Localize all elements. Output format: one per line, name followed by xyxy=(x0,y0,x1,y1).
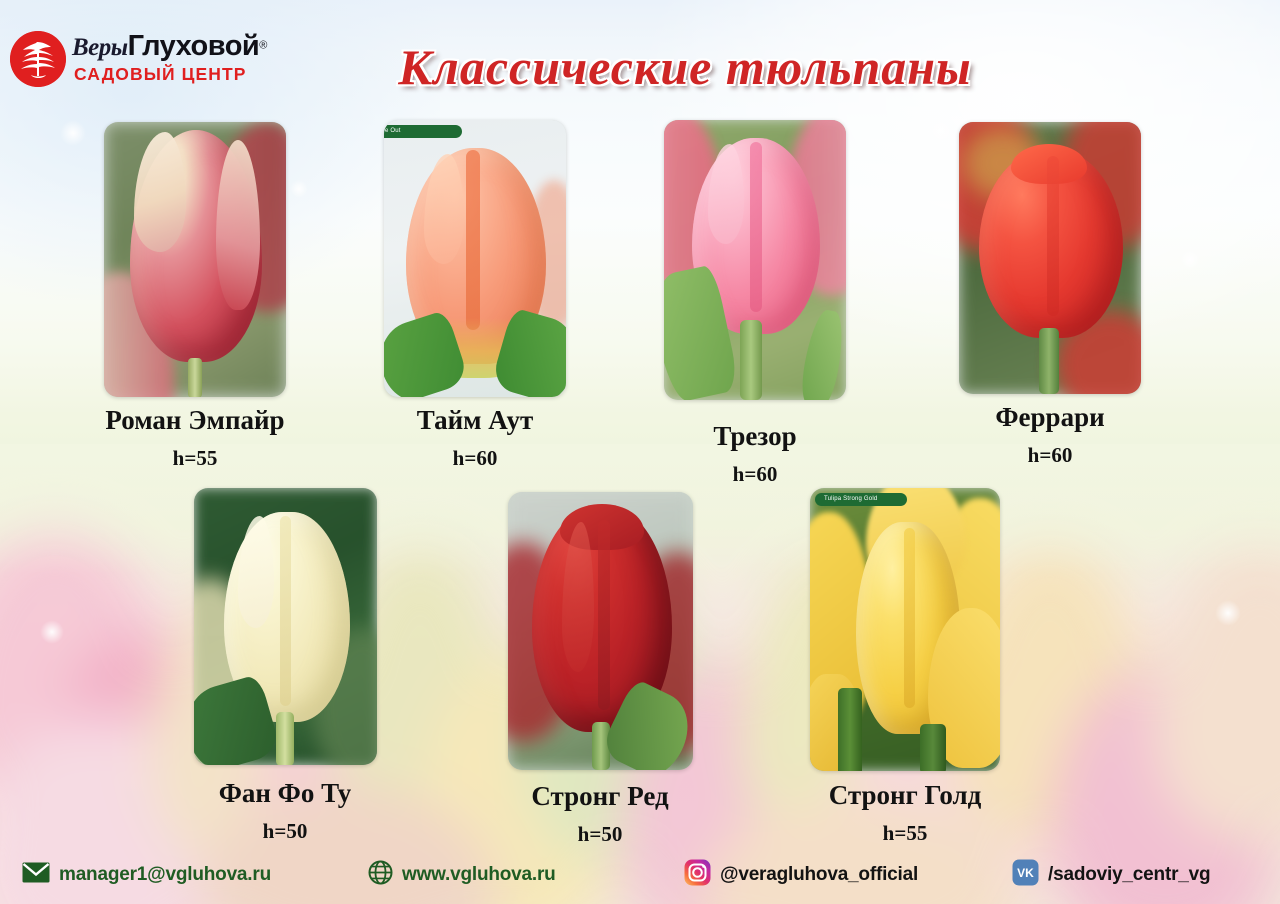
tulip-photo-badge: Tulipa Strong Gold xyxy=(815,493,907,506)
tulip-card-strong-gold: Tulipa Strong Gold Стронг Голд h=55 xyxy=(775,488,1035,846)
tulip-photo-roman-empire xyxy=(104,122,286,397)
tulip-name: Феррари xyxy=(915,403,1185,433)
tulip-photo-time-out: e Out xyxy=(384,120,566,397)
svg-text:VK: VK xyxy=(1017,866,1034,880)
tulip-photo-strong-red xyxy=(508,492,693,770)
contact-bar: manager1@vgluhova.ru www.vgluhova.ru xyxy=(0,846,1280,904)
tulip-height: h=60 xyxy=(620,462,890,487)
contact-instagram[interactable]: @veragluhova_official xyxy=(684,859,918,891)
tulip-caption-strong-red: Стронг Ред h=50 xyxy=(470,782,730,847)
contact-website[interactable]: www.vgluhova.ru xyxy=(368,860,556,890)
tulip-caption-trezor: Трезор h=60 xyxy=(620,422,890,487)
contact-vk[interactable]: VK /sadoviy_centr_vg xyxy=(1012,859,1210,891)
vk-icon: VK xyxy=(1012,859,1039,891)
tulip-photo-trezor xyxy=(664,120,846,400)
contact-email[interactable]: manager1@vgluhova.ru xyxy=(22,862,271,888)
tulip-name: Трезор xyxy=(620,422,890,452)
tulip-height: h=50 xyxy=(155,819,415,844)
contact-vk-text: /sadoviy_centr_vg xyxy=(1048,864,1210,886)
tulip-height: h=55 xyxy=(775,821,1035,846)
email-icon xyxy=(22,862,50,888)
tulip-photo-fan-fo-tu xyxy=(194,488,377,765)
poster-canvas: ВерыГлуховой® САДОВЫЙ ЦЕНТР Классические… xyxy=(0,0,1280,904)
instagram-icon xyxy=(684,859,711,891)
tulip-card-trezor: Трезор h=60 xyxy=(620,120,890,487)
tulip-name: Фан Фо Ту xyxy=(155,779,415,809)
tulip-name: Стронг Ред xyxy=(470,782,730,812)
tulip-card-ferrari: Феррари h=60 xyxy=(915,122,1185,468)
tulip-height: h=50 xyxy=(470,822,730,847)
tulip-card-fan-fo-tu: Фан Фо Ту h=50 xyxy=(155,488,415,844)
tulip-caption-time-out: Тайм Аут h=60 xyxy=(330,406,620,471)
globe-icon xyxy=(368,860,393,890)
tulip-name: Роман Эмпайр xyxy=(40,406,350,436)
tulip-caption-strong-gold: Стронг Голд h=55 xyxy=(775,781,1035,846)
tulip-card-strong-red: Стронг Ред h=50 xyxy=(470,492,730,847)
tulip-height: h=60 xyxy=(915,443,1185,468)
contact-instagram-text: @veragluhova_official xyxy=(720,864,918,886)
tulip-card-time-out: e Out Тайм Аут h=60 xyxy=(330,120,620,471)
contact-website-text: www.vgluhova.ru xyxy=(402,864,556,886)
tulip-caption-roman-empire: Роман Эмпайр h=55 xyxy=(40,406,350,471)
tulip-height: h=60 xyxy=(330,446,620,471)
poster-header: ВерыГлуховой® САДОВЫЙ ЦЕНТР Классические… xyxy=(0,0,1280,110)
page-title: Классические тюльпаны xyxy=(0,38,1280,96)
tulip-photo-strong-gold: Tulipa Strong Gold xyxy=(810,488,1000,771)
tulip-photo-ferrari xyxy=(959,122,1141,394)
tulip-photo-badge: e Out xyxy=(384,125,462,138)
tulip-name: Стронг Голд xyxy=(775,781,1035,811)
contact-email-text: manager1@vgluhova.ru xyxy=(59,864,271,886)
tulip-height: h=55 xyxy=(40,446,350,471)
tulip-name: Тайм Аут xyxy=(330,406,620,436)
tulip-card-roman-empire: Роман Эмпайр h=55 xyxy=(40,122,350,471)
tulip-caption-fan-fo-tu: Фан Фо Ту h=50 xyxy=(155,779,415,844)
tulip-caption-ferrari: Феррари h=60 xyxy=(915,403,1185,468)
